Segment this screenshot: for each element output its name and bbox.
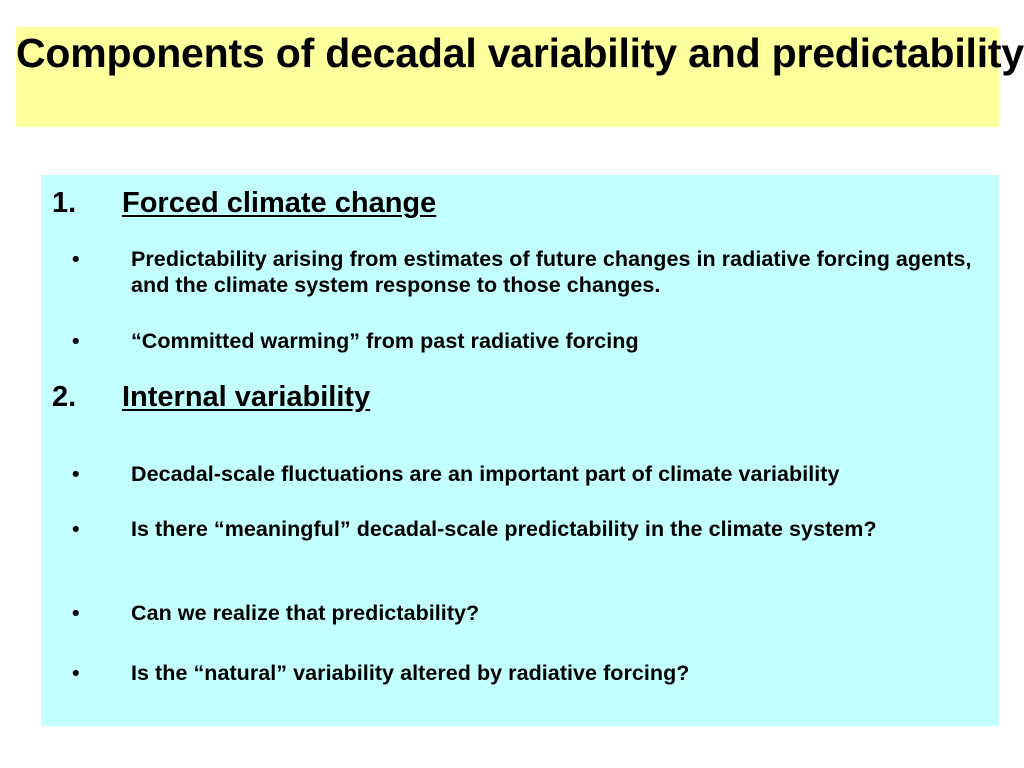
title-banner: Components of decadal variability and pr… bbox=[16, 27, 999, 127]
slide: Components of decadal variability and pr… bbox=[0, 0, 1024, 768]
bullet-icon: • bbox=[72, 328, 80, 354]
list-item-text: Can we realize that predictability? bbox=[131, 600, 1001, 626]
list-item-text: Decadal-scale fluctuations are an import… bbox=[131, 461, 1001, 487]
list-item-text: Is there “meaningful” decadal-scale pred… bbox=[131, 516, 931, 542]
bullet-icon: • bbox=[72, 516, 80, 542]
bullet-icon: • bbox=[72, 461, 80, 487]
section-number-2: 2. bbox=[52, 382, 108, 414]
bullet-icon: • bbox=[72, 246, 80, 272]
bullet-icon: • bbox=[72, 660, 80, 686]
section-title-2: Internal variability bbox=[122, 382, 370, 414]
section-number-1: 1. bbox=[52, 188, 108, 220]
content-panel: 1. Forced climate change • Predictabilit… bbox=[41, 175, 999, 726]
list-item-text: Predictability arising from estimates of… bbox=[131, 246, 1001, 298]
list-item-text: Is the “natural” variability altered by … bbox=[131, 660, 1001, 686]
section-title-1: Forced climate change bbox=[122, 188, 436, 220]
bullet-icon: • bbox=[72, 600, 80, 626]
list-item-text: “Committed warming” from past radiative … bbox=[131, 328, 1001, 354]
page-title: Components of decadal variability and pr… bbox=[16, 31, 999, 77]
